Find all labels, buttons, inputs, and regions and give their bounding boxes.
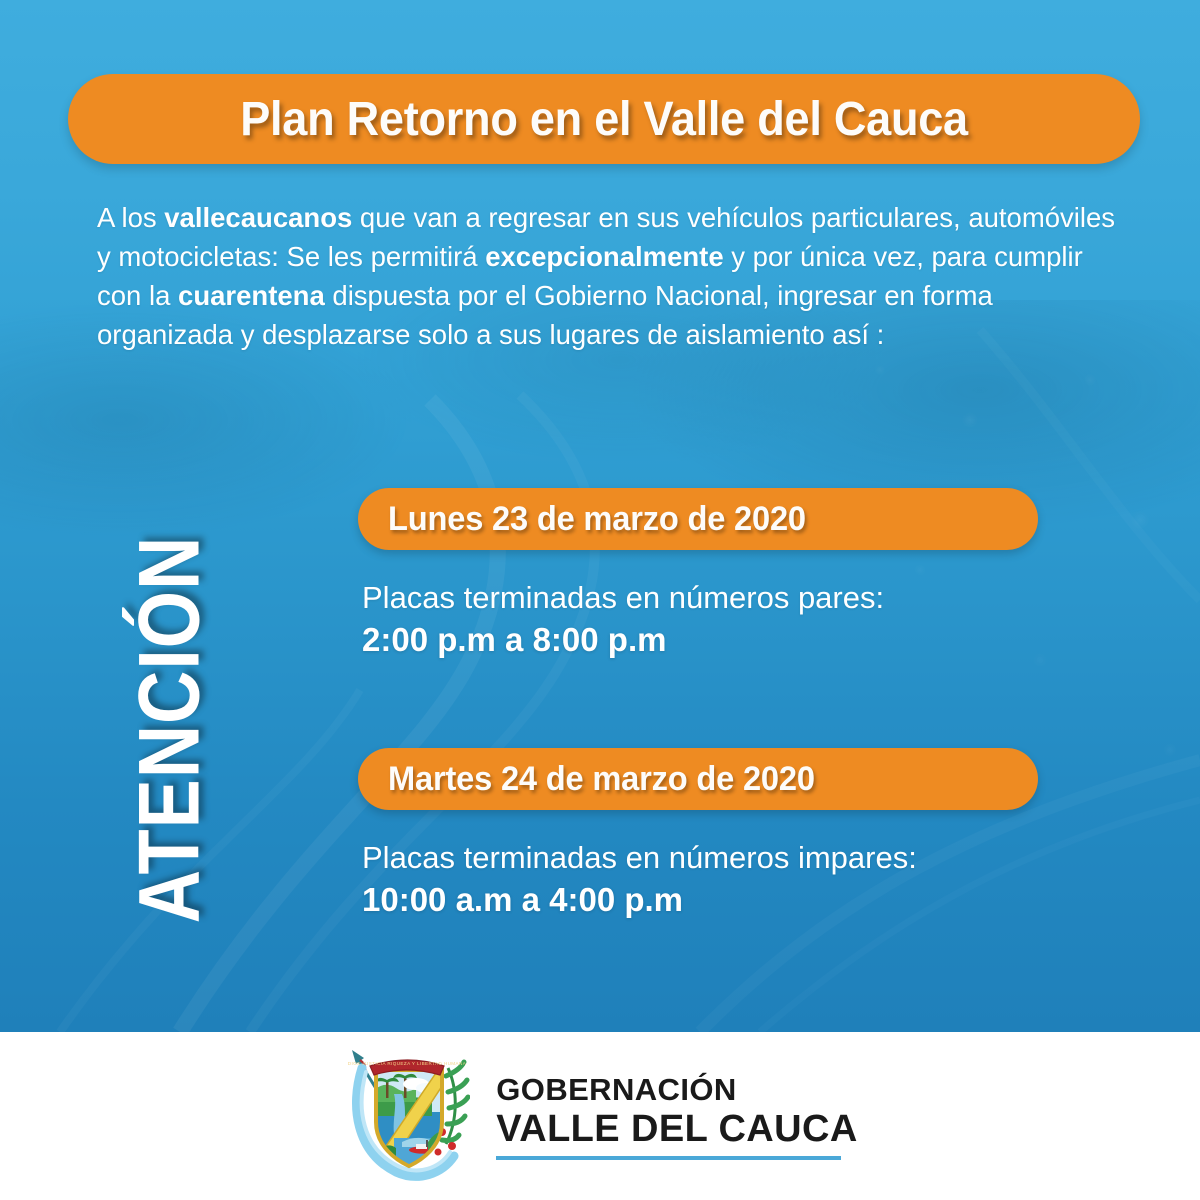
attention-banner: ATENCIÓN [0,430,300,990]
footer-logo-line2: VALLE DEL CAUCA [496,1108,857,1151]
schedule-details-monday: Placas terminadas en números pares: 2:00… [358,578,1038,662]
intro-paragraph: A los vallecaucanos que van a regresar e… [97,198,1127,354]
svg-text:DIOS JUSTICIA RIQUEZA Y LI: DIOS JUSTICIA RIQUEZA Y LIBERTAD HUMANA [348,1061,467,1066]
plate-rule-monday: Placas terminadas en números pares: [362,578,1038,618]
footer-logo-underline [496,1156,841,1160]
page-title: Plan Retorno en el Valle del Cauca [240,92,968,147]
hours-monday: 2:00 p.m a 8:00 p.m [362,618,1038,662]
title-banner: Plan Retorno en el Valle del Cauca [68,74,1140,164]
plate-rule-tuesday: Placas terminadas en números impares: [362,838,1038,878]
hours-tuesday: 10:00 a.m a 4:00 p.m [362,878,1038,922]
footer-logo-bar: DIOS JUSTICIA RIQUEZA Y LIBERTAD HUMANA … [0,1032,1200,1200]
poster-root: Plan Retorno en el Valle del Cauca A los… [0,0,1200,1200]
valle-del-cauca-coat-of-arms-icon: DIOS JUSTICIA RIQUEZA Y LIBERTAD HUMANA [342,1046,470,1186]
date-badge-tuesday: Martes 24 de marzo de 2020 [358,748,1038,810]
footer-logo-line1: GOBERNACIÓN [496,1072,857,1108]
schedule-block-tuesday: Martes 24 de marzo de 2020 Placas termin… [358,748,1038,922]
date-badge-label: Lunes 23 de marzo de 2020 [388,500,806,539]
schedule-details-tuesday: Placas terminadas en números impares: 10… [358,838,1038,922]
date-badge-monday: Lunes 23 de marzo de 2020 [358,488,1038,550]
attention-label: ATENCIÓN [121,489,220,971]
schedule-block-monday: Lunes 23 de marzo de 2020 Placas termina… [358,488,1038,662]
date-badge-label: Martes 24 de marzo de 2020 [388,760,815,799]
footer-logo-text: GOBERNACIÓN VALLE DEL CAUCA [496,1072,857,1160]
